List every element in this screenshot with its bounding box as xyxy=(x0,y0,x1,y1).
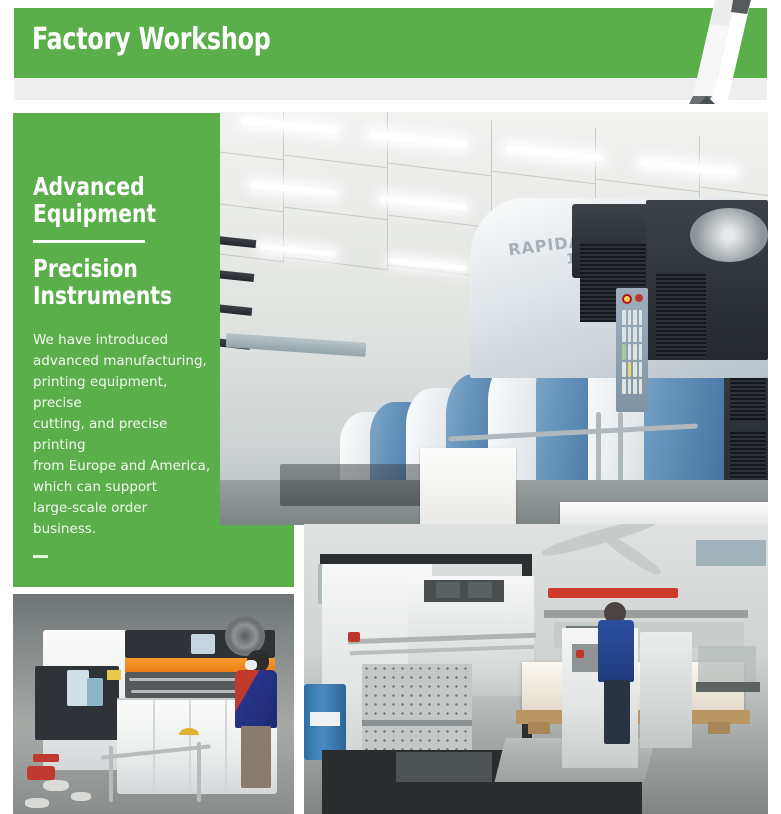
worker-legs xyxy=(241,726,271,788)
page-title: Factory Workshop xyxy=(32,22,271,57)
machine-handle xyxy=(179,728,199,735)
keypad-key[interactable] xyxy=(622,379,626,394)
panel-seam xyxy=(362,720,472,726)
machine-display xyxy=(191,634,215,654)
keypad-key[interactable] xyxy=(633,362,637,377)
dash-mark-icon xyxy=(33,555,48,558)
machine-part xyxy=(67,670,89,706)
keypad-key[interactable] xyxy=(622,310,626,325)
paper-scrap xyxy=(43,780,69,791)
paper-stack xyxy=(560,502,768,525)
keypad-key[interactable] xyxy=(633,310,637,325)
keypad-key[interactable] xyxy=(633,379,637,394)
keypad-key[interactable] xyxy=(628,327,632,342)
paper-scrap xyxy=(71,792,91,801)
die-cutting-machine-photo xyxy=(13,594,294,814)
keypad-key[interactable] xyxy=(628,344,632,359)
pallet-leg xyxy=(708,722,730,734)
emergency-stop-button[interactable] xyxy=(622,294,632,304)
red-cable xyxy=(548,588,678,598)
control-keypad[interactable] xyxy=(620,308,644,396)
keypad-key[interactable] xyxy=(622,344,626,359)
indicator-light xyxy=(635,294,643,302)
paper-scrap xyxy=(25,798,49,808)
keypad-key[interactable] xyxy=(639,344,643,359)
header-banner: Factory Workshop xyxy=(14,8,767,78)
panel-body-text: We have introduced advanced manufacturin… xyxy=(33,330,213,540)
bench-edge xyxy=(696,682,760,692)
keypad-key[interactable] xyxy=(639,327,643,342)
body-seam xyxy=(225,700,227,794)
overhead-rail xyxy=(544,610,748,618)
face-mask xyxy=(245,660,257,670)
pallet-leg xyxy=(528,722,550,734)
machine-part xyxy=(87,678,103,706)
worker-jacket xyxy=(598,620,634,682)
panel-heading-primary: Advanced Equipment xyxy=(33,173,222,227)
guard-rail-post xyxy=(109,746,113,802)
lower-grille xyxy=(396,752,492,782)
worker-legs xyxy=(604,680,630,744)
panel-divider xyxy=(33,240,145,243)
keypad-key[interactable] xyxy=(639,310,643,325)
worker-jacket xyxy=(235,670,277,728)
paper-stack xyxy=(420,448,516,525)
keypad-key[interactable] xyxy=(622,362,626,377)
guard-rail-post xyxy=(197,742,201,802)
red-part xyxy=(33,754,59,762)
keypad-key[interactable] xyxy=(639,362,643,377)
panel-heading-secondary: Precision Instruments xyxy=(33,255,222,309)
keypad-key[interactable] xyxy=(628,362,632,377)
control-button[interactable] xyxy=(576,650,584,658)
keypad-key[interactable] xyxy=(639,379,643,394)
keypad-key[interactable] xyxy=(633,327,637,342)
keypad-key[interactable] xyxy=(633,344,637,359)
header-strip xyxy=(14,78,767,100)
keypad-key[interactable] xyxy=(628,310,632,325)
warning-label xyxy=(107,670,121,680)
keypad-key[interactable] xyxy=(628,379,632,394)
offset-printing-press-photo: RAPIDA 162 xyxy=(220,112,768,525)
background-bench xyxy=(698,646,756,682)
background-window xyxy=(696,540,766,566)
feeder-port xyxy=(436,582,460,598)
paper-feeder-machine-photo xyxy=(304,524,768,814)
rail-knob xyxy=(348,632,360,642)
drum-label xyxy=(310,712,340,726)
body-seam xyxy=(153,700,155,794)
perforated-panel xyxy=(362,664,472,750)
press-grille xyxy=(656,272,706,358)
background-machine xyxy=(640,632,692,748)
feeder-port xyxy=(468,582,492,598)
press-roller xyxy=(690,208,768,262)
feeder-top-beam xyxy=(320,554,532,564)
red-bin xyxy=(27,766,55,780)
keypad-key[interactable] xyxy=(622,327,626,342)
